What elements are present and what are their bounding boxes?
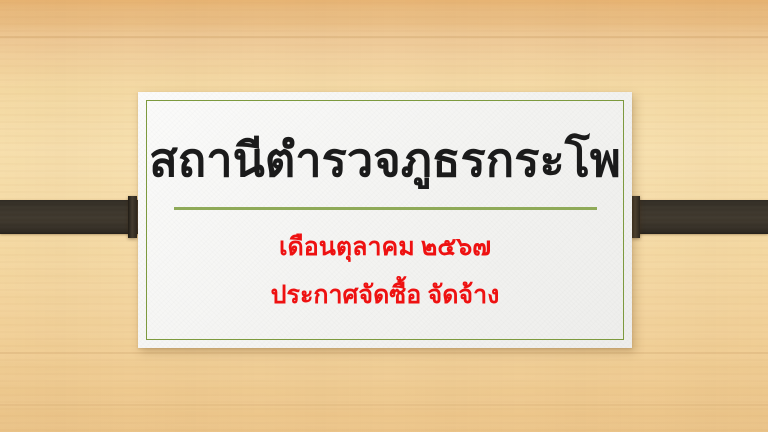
title-slide: สถานีตำรวจภูธรกระโพ เดือนตุลาคม ๒๕๖๗ ประ…: [0, 0, 768, 432]
ribbon-end-cap-right: [631, 196, 640, 238]
subtitle-line-category: ประกาศจัดซื้อ จัดจ้าง: [138, 272, 632, 320]
subtitle-group: เดือนตุลาคม ๒๕๖๗ ประกาศจัดซื้อ จัดจ้าง: [138, 210, 632, 319]
page-title: สถานีตำรวจภูธรกระโพ: [138, 92, 632, 185]
title-card: สถานีตำรวจภูธรกระโพ เดือนตุลาคม ๒๕๖๗ ประ…: [138, 92, 632, 348]
subtitle-line-month: เดือนตุลาคม ๒๕๖๗: [138, 224, 632, 272]
ribbon-end-cap-left: [128, 196, 137, 238]
card-content: สถานีตำรวจภูธรกระโพ เดือนตุลาคม ๒๕๖๗ ประ…: [138, 92, 632, 348]
